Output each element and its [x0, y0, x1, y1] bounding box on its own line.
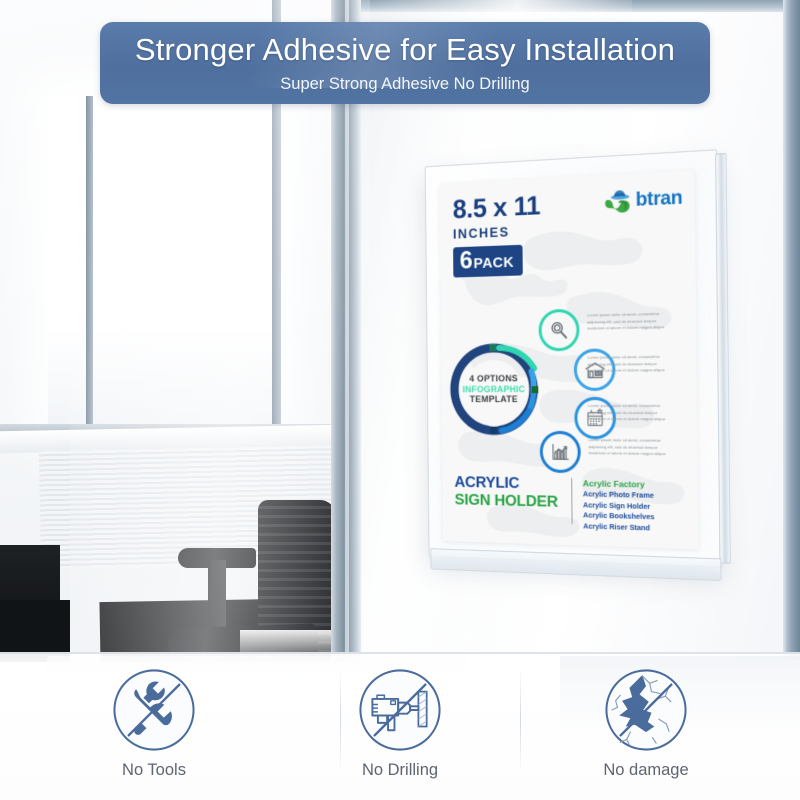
door-frame-top	[360, 0, 800, 12]
infographic-line-2: INFOGRAPHIC	[463, 384, 526, 395]
node-ring-2	[574, 348, 616, 391]
house-icon	[574, 348, 616, 391]
pack-count-word: PACK	[473, 253, 514, 271]
acrylic-sign-holder: btran 8.5 x 11 INCHES 6 PACK	[425, 149, 722, 567]
magnifier-icon	[538, 309, 579, 352]
infographic-line-3: TEMPLATE	[470, 395, 518, 406]
product-size: 8.5 x 11	[453, 185, 681, 223]
infographic-node-text-4: Lorem ipsum dolor sit amet, consectetur …	[588, 437, 670, 458]
infographic-line-1: 4 OPTIONS	[469, 373, 518, 384]
feature-label: No Drilling	[362, 762, 438, 779]
footer-divider	[571, 478, 572, 524]
infographic-center-label: 4 OPTIONS INFOGRAPHIC TEMPLATE	[452, 345, 536, 432]
infographic-node-magnifier	[538, 309, 579, 352]
factory-list-item: Acrylic Riser Stand	[583, 521, 685, 535]
door-frame-right	[786, 0, 800, 660]
pack-count-badge: 6 PACK	[453, 244, 523, 277]
factory-list-item: Acrylic Sign Holder	[583, 500, 685, 513]
infographic-graphic: 4 OPTIONS INFOGRAPHIC TEMPLATE	[448, 302, 689, 477]
feature-no-drilling: No Drilling	[336, 664, 464, 779]
acrylic-factory-list: Acrylic Factory Acrylic Photo Frame Acry…	[583, 476, 685, 534]
counter-edge-line	[0, 652, 800, 654]
w-hat-logo-icon	[604, 188, 634, 216]
factory-list-item: Acrylic Bookshelves	[583, 510, 685, 523]
feature-label: No damage	[603, 762, 688, 779]
window-light	[48, 96, 278, 426]
product-marketing-image: Stronger Adhesive for Easy Installation …	[0, 0, 800, 800]
infographic-node-text-2: Lorem ipsum dolor sit amet, consectetur …	[588, 354, 670, 375]
insert-poster: btran 8.5 x 11 INCHES 6 PACK	[440, 170, 699, 549]
feature-no-damage: No damage	[582, 664, 710, 779]
footer-title-line2: SIGN HOLDER	[455, 491, 558, 511]
headline-banner: Stronger Adhesive for Easy Installation …	[100, 22, 710, 104]
factory-list-item: Acrylic Photo Frame	[583, 489, 685, 502]
feature-label: No Tools	[122, 762, 186, 779]
infographic-node-house	[574, 348, 616, 391]
factory-list-heading: Acrylic Factory	[583, 477, 685, 491]
no-damage-icon	[600, 664, 692, 756]
infographic-node-text-3: Lorem ipsum dolor sit amet, consectetur …	[588, 403, 670, 424]
brand-logo: btran	[604, 185, 683, 215]
no-tools-icon	[108, 664, 200, 756]
footer-title-line1: ACRYLIC	[454, 474, 557, 494]
banner-subtitle: Super Strong Adhesive No Drilling	[280, 76, 529, 93]
infographic-node-text-1: Lorem ipsum dolor sit amet, consectetur …	[587, 311, 669, 333]
bar-chart-icon	[540, 431, 581, 473]
poster-footer: ACRYLIC SIGN HOLDER Acrylic Factory Acry…	[442, 474, 698, 535]
infographic-node-chart	[540, 431, 581, 473]
poster-footer-title: ACRYLIC SIGN HOLDER	[454, 474, 557, 511]
feature-no-tools: No Tools	[90, 664, 218, 779]
banner-title: Stronger Adhesive for Easy Installation	[135, 34, 675, 65]
window-mullion-left	[86, 96, 93, 426]
feature-badges: No Tools	[0, 664, 800, 794]
pack-count-number: 6	[460, 248, 473, 273]
no-drilling-icon	[354, 664, 446, 756]
